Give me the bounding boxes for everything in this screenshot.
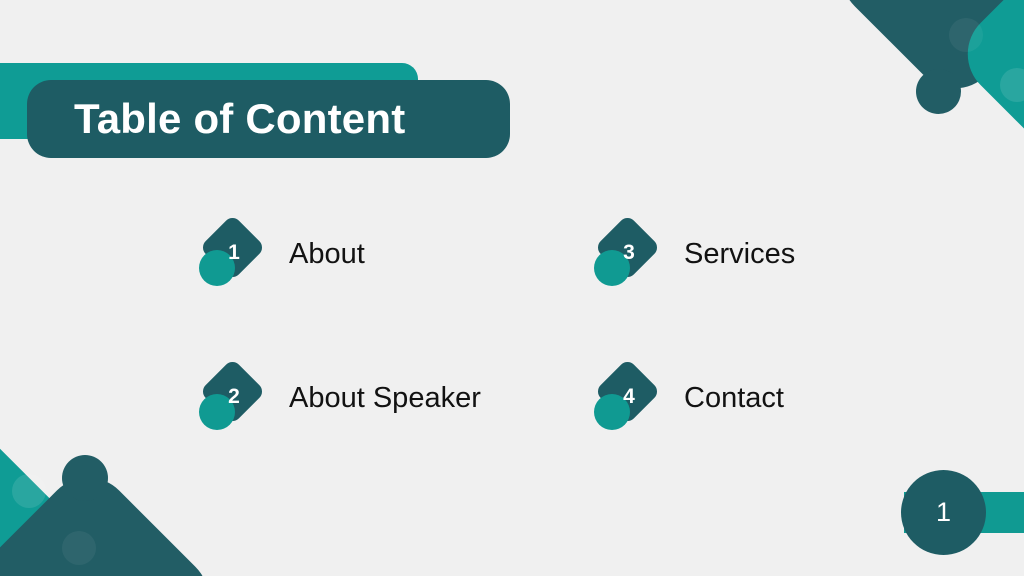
decor-bottom-left-light-diamond: [0, 415, 93, 576]
decor-bottom-left-dark-diamond: [0, 459, 227, 576]
toc-number: 3: [590, 212, 658, 296]
page-number-text: 1: [936, 499, 951, 526]
toc-label: Services: [684, 240, 795, 269]
decor-top-right-ghost-circle-a: [949, 18, 983, 52]
slide-canvas: Table of Content 1 About 3 Services 2: [0, 0, 1024, 576]
decor-top-right-dot: [916, 69, 961, 114]
page-title: Table of Content: [27, 98, 405, 140]
toc-number: 2: [195, 356, 263, 440]
toc-label: Contact: [684, 384, 784, 413]
decor-top-right-light-diamond: [950, 0, 1024, 178]
toc-item-contact[interactable]: 4 Contact: [590, 356, 895, 440]
toc-marker-1: 1: [195, 212, 279, 296]
table-of-content-list: 1 About 3 Services 2 About Speaker: [195, 212, 895, 500]
toc-marker-4: 4: [590, 356, 674, 440]
toc-item-about-speaker[interactable]: 2 About Speaker: [195, 356, 590, 440]
page-number-badge: 1: [901, 470, 986, 555]
toc-label: About: [289, 240, 365, 269]
toc-number: 4: [590, 356, 658, 440]
toc-item-about[interactable]: 1 About: [195, 212, 590, 296]
decor-bottom-left-ghost-circle-a: [12, 474, 46, 508]
toc-marker-2: 2: [195, 356, 279, 440]
decor-bottom-left-ghost-circle-b: [62, 531, 96, 565]
toc-label: About Speaker: [289, 384, 481, 413]
toc-item-services[interactable]: 3 Services: [590, 212, 895, 296]
toc-marker-3: 3: [590, 212, 674, 296]
decor-bottom-left-dot: [62, 455, 108, 501]
title-plate: Table of Content: [27, 80, 510, 158]
decor-top-right-dark-diamond: [823, 0, 1024, 107]
toc-number: 1: [195, 212, 263, 296]
decor-top-right-ghost-circle-b: [1000, 68, 1024, 102]
